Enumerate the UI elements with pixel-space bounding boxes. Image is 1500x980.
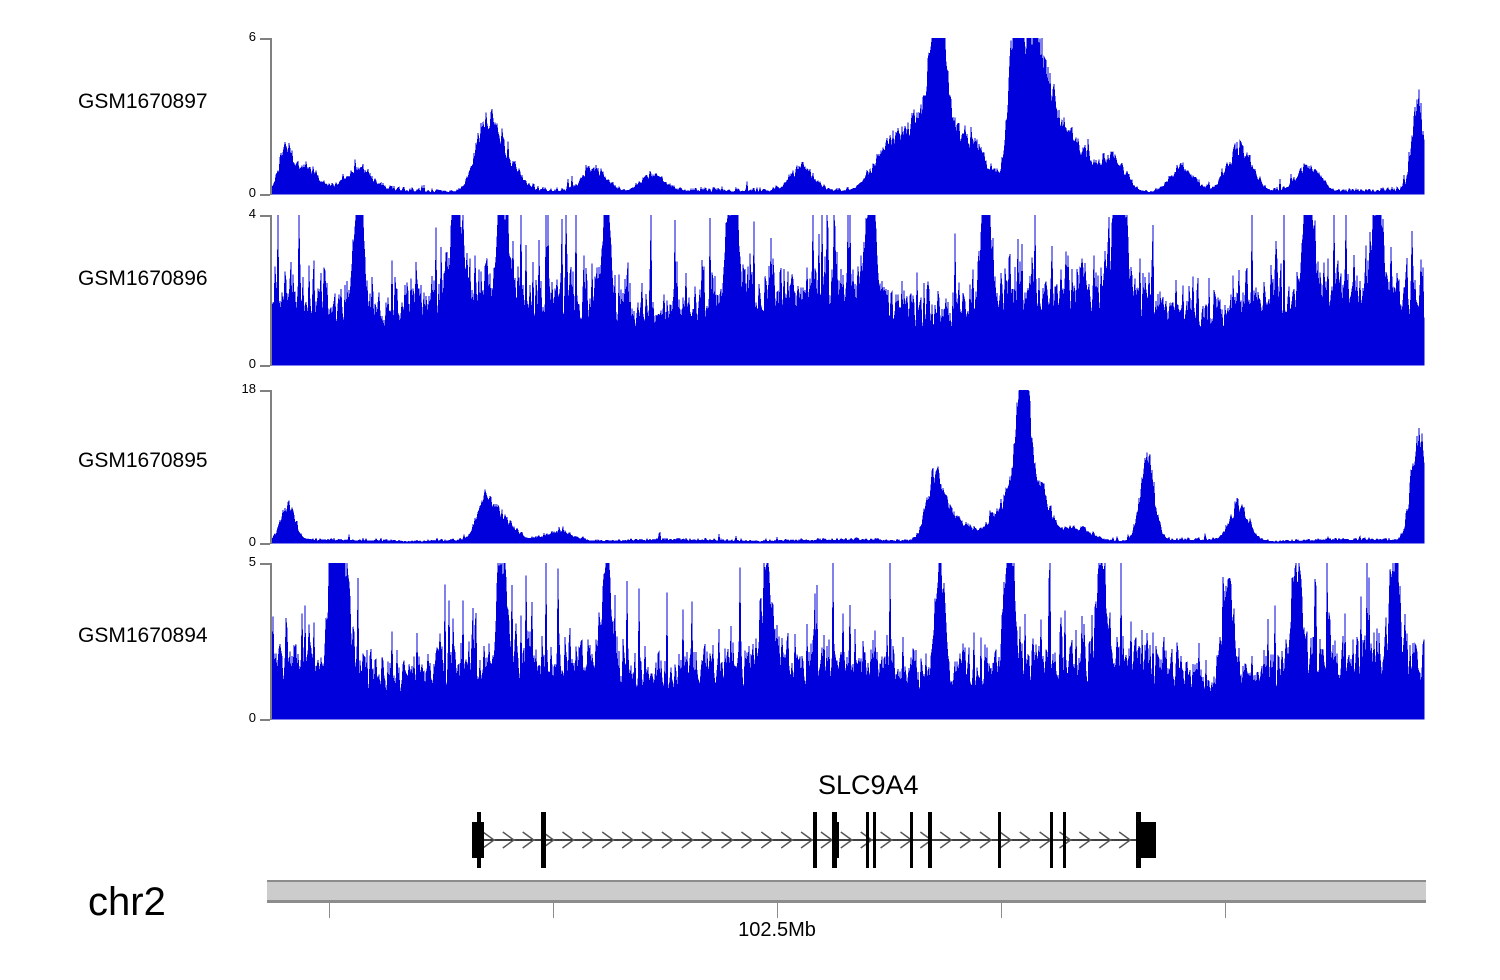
track-label-gsm1670897: GSM1670897 xyxy=(78,90,208,114)
y-axis-tick-max xyxy=(260,563,270,565)
axis-tick-3 xyxy=(1001,902,1002,918)
y-axis-max-label: 18 xyxy=(212,381,256,396)
gene-exon-bar[interactable] xyxy=(541,812,546,868)
gene-exon-bar[interactable] xyxy=(1063,812,1066,868)
coverage-plot-area[interactable] xyxy=(272,215,1425,366)
gene-exon-bar[interactable] xyxy=(998,812,1001,868)
coverage-plot-area[interactable] xyxy=(272,38,1425,195)
ideogram-bar[interactable] xyxy=(267,880,1426,902)
gene-exon-bar[interactable] xyxy=(910,812,913,868)
axis-tick-0 xyxy=(329,902,330,918)
axis-tick-4 xyxy=(1225,902,1226,918)
axis-tick-1 xyxy=(553,902,554,918)
gene-exon-block[interactable] xyxy=(832,822,839,858)
chromosome-axis-panel: chr2 102.5Mb xyxy=(0,865,1500,980)
y-axis-tick-max xyxy=(260,215,270,217)
coverage-plot-area[interactable] xyxy=(272,390,1425,544)
y-axis-min-label: 0 xyxy=(212,185,256,200)
gene-exon-bar[interactable] xyxy=(813,812,817,868)
gene-model-panel: SLC9A4 xyxy=(0,755,1500,875)
y-axis-max-label: 4 xyxy=(212,206,256,221)
axis-tick-2 xyxy=(777,902,778,918)
track-label-gsm1670895: GSM1670895 xyxy=(78,449,208,473)
chromosome-label: chr2 xyxy=(88,880,166,925)
axis-baseline xyxy=(267,902,1426,903)
y-axis-tick-min xyxy=(260,719,270,721)
axis-tick-label: 102.5Mb xyxy=(738,919,816,942)
gene-exon-bar[interactable] xyxy=(928,812,932,868)
y-axis-min-label: 0 xyxy=(212,534,256,549)
y-axis-min-label: 0 xyxy=(212,710,256,725)
y-axis-tick-min xyxy=(260,365,270,367)
y-axis-max-label: 6 xyxy=(212,29,256,44)
track-label-gsm1670896: GSM1670896 xyxy=(78,267,208,291)
y-axis-max-label: 5 xyxy=(212,554,256,569)
gene-exon-bar[interactable] xyxy=(1050,812,1053,868)
genome-browser-canvas: GSM167089760GSM167089640GSM1670895180GSM… xyxy=(0,0,1500,980)
y-axis-tick-min xyxy=(260,194,270,196)
gene-exon-bar[interactable] xyxy=(866,812,869,868)
y-axis-tick-min xyxy=(260,543,270,545)
coverage-plot-area[interactable] xyxy=(272,563,1425,720)
y-axis-tick-max xyxy=(260,390,270,392)
y-axis-min-label: 0 xyxy=(212,356,256,371)
gene-exon-bar[interactable] xyxy=(873,812,876,868)
y-axis-tick-max xyxy=(260,38,270,40)
track-label-gsm1670894: GSM1670894 xyxy=(78,624,208,648)
gene-exon-block[interactable] xyxy=(1136,822,1156,858)
gene-exon-block[interactable] xyxy=(472,822,484,858)
gene-model-svg[interactable] xyxy=(0,755,1500,875)
